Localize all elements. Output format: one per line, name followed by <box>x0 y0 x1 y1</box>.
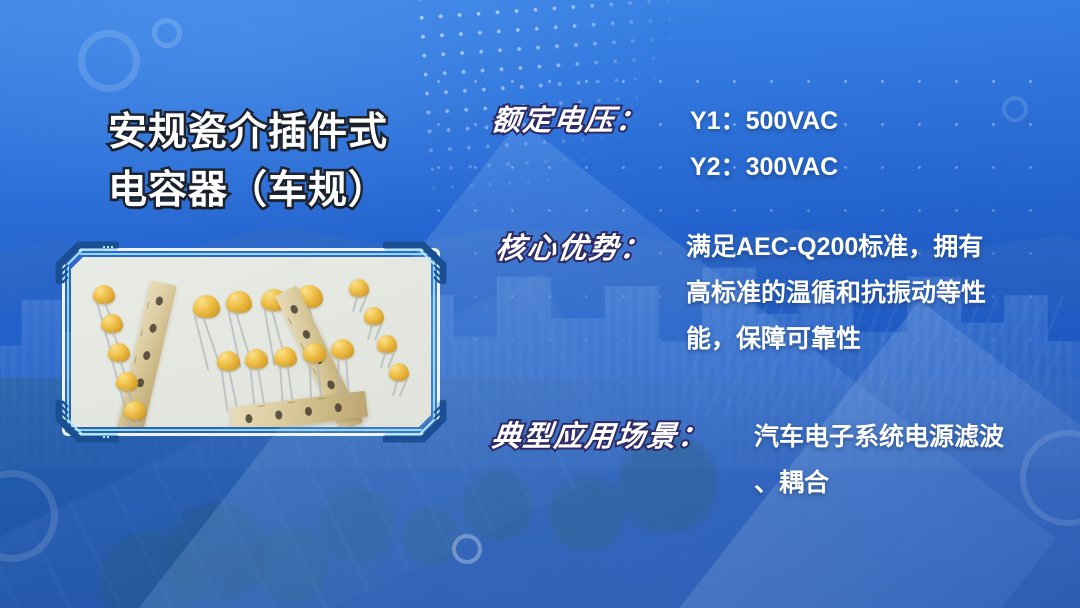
spec-value-rated-voltage: Y1：500VAC Y2：300VAC <box>690 98 838 190</box>
spec-value-core-advantage: 满足AEC-Q200标准，拥有 高标准的温循和抗振动等性 能，保障可靠性 <box>686 224 1068 362</box>
spec-value-application: 汽车电子系统电源滤波 、耦合 <box>754 414 1068 506</box>
spec-label-rated-voltage: 额定电压： <box>490 104 649 138</box>
product-image-frame <box>62 248 440 436</box>
page-title: 安规瓷介插件式 电容器（车规） <box>108 104 448 220</box>
spec-label-core-advantage: 核心优势： <box>494 232 653 266</box>
poster-canvas: 安规瓷介插件式 电容器（车规） <box>0 0 1080 608</box>
spec-label-application: 典型应用场景： <box>490 420 711 454</box>
spec-row-rated-voltage: 额定电压： <box>492 104 647 138</box>
product-photo <box>71 257 431 427</box>
product-photo-area <box>71 257 431 427</box>
spec-row-core-advantage: 核心优势： <box>496 232 651 266</box>
spec-row-application: 典型应用场景： <box>492 420 709 454</box>
